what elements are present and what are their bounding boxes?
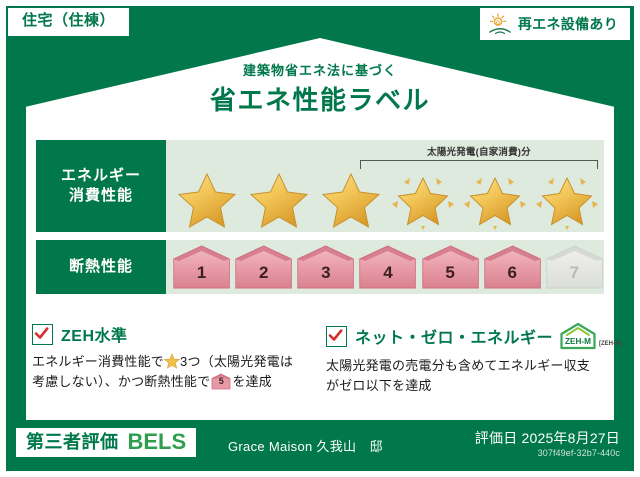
checkbox-checked-icon <box>326 326 347 347</box>
category-tag: 住宅（住棟） <box>8 8 129 36</box>
insulation-grade-value: 5 <box>445 263 454 290</box>
star-icon-inline <box>164 353 180 369</box>
bels-jp-label: 第三者評価 <box>26 433 119 451</box>
criteria-zeh-block: ZEH水準 エネルギー消費性能で3つ（太陽光発電は考慮しない）、かつ断熱性能で5… <box>32 322 304 392</box>
energy-header-line2: 消費性能 <box>69 186 133 206</box>
insulation-grade-badge-unachieved: 7 <box>545 244 604 290</box>
insulation-grade-scale: 1 2 3 <box>172 240 604 294</box>
zeh-m-logo: ZEH-M [ZEH-M] <box>559 322 622 350</box>
insulation-grade-value: 2 <box>259 263 268 290</box>
building-name: Grace Maison 久我山 邸 <box>228 436 383 455</box>
criteria-zeh-grade-value: 5 <box>211 375 231 389</box>
insulation-grade-badge: 4 <box>358 244 417 290</box>
insulation-grade-badge: 5 <box>421 244 480 290</box>
svg-text:ZEH-M: ZEH-M <box>565 337 591 346</box>
insulation-grade-value: 6 <box>508 263 517 290</box>
renewable-badge-label: 再エネ設備あり <box>518 17 618 31</box>
criteria-netzero-header: ネット・ゼロ・エネルギー ZEH-M [ZEH-M] <box>326 322 598 350</box>
energy-row-body: 太陽光発電(自家消費)分 <box>166 140 604 232</box>
insulation-grade-badge: 2 <box>234 244 293 290</box>
energy-performance-row: エネルギー 消費性能 太陽光発電(自家消費)分 <box>36 140 604 232</box>
insulation-grade-badge: 6 <box>483 244 542 290</box>
energy-row-header: エネルギー 消費性能 <box>36 140 166 232</box>
criteria-netzero-block: ネット・ゼロ・エネルギー ZEH-M [ZEH-M] 太陽光発電の売電分も含めて… <box>326 322 598 396</box>
insulation-grade-badge: 3 <box>296 244 355 290</box>
zeh-m-logo-caption: [ZEH-M] <box>599 341 622 350</box>
checkbox-checked-icon <box>32 324 53 345</box>
criteria-zeh-header: ZEH水準 <box>32 322 304 346</box>
bels-en-label: BELS <box>128 431 187 453</box>
star-icon-solar <box>460 168 530 230</box>
insulation-grade-badge-inline: 5 <box>211 373 231 390</box>
footer-bar: 第三者評価 BELS Grace Maison 久我山 邸 評価日 2025年8… <box>6 420 634 471</box>
insulation-grade-value: 1 <box>197 263 206 290</box>
star-icon <box>316 168 386 230</box>
star-icon-solar <box>532 168 602 230</box>
solar-contribution-bracket: 太陽光発電(自家消費)分 <box>358 146 600 170</box>
star-icon-solar <box>388 168 458 230</box>
star-icon <box>244 168 314 230</box>
page-title: 省エネ性能ラベル <box>0 80 640 117</box>
renewable-equipment-badge: D 再エネ設備あり <box>480 8 630 40</box>
insulation-grade-badge: 1 <box>172 244 231 290</box>
insulation-row-body: 1 2 3 <box>166 240 604 294</box>
energy-header-line1: エネルギー <box>61 166 141 186</box>
star-rating <box>166 168 604 230</box>
solar-bracket-label: 太陽光発電(自家消費)分 <box>358 144 600 158</box>
insulation-header-line1: 断熱性能 <box>69 257 133 277</box>
criteria-netzero-title: ネット・ゼロ・エネルギー <box>355 324 553 348</box>
criteria-zeh-text: エネルギー消費性能で3つ（太陽光発電は考慮しない）、かつ断熱性能で5を達成 <box>32 352 304 392</box>
criteria-zeh-text-part1: エネルギー消費性能で <box>32 354 164 369</box>
insulation-row-header: 断熱性能 <box>36 240 166 294</box>
criteria-zeh-star-count: 3つ <box>180 354 201 369</box>
evaluation-id: 307f49ef-32b7-440c <box>538 448 620 458</box>
criteria-zeh-text-part3: を達成 <box>232 374 272 389</box>
bels-badge: 第三者評価 BELS <box>16 428 196 457</box>
criteria-zeh-title: ZEH水準 <box>61 322 128 346</box>
criteria-netzero-text: 太陽光発電の売電分も含めてエネルギー収支がゼロ以下を達成 <box>326 356 598 396</box>
svg-text:D: D <box>496 20 500 26</box>
evaluation-date: 評価日 2025年8月27日 <box>475 428 620 448</box>
insulation-grade-value: 7 <box>570 263 579 290</box>
energy-performance-label: 住宅（住棟） D 再エネ設備あり 建築物省エネ法に基づく 省エネ性能ラベル <box>0 0 640 477</box>
star-icon <box>172 168 242 230</box>
insulation-performance-row: 断熱性能 <box>36 240 604 294</box>
insulation-grade-value: 3 <box>321 263 330 290</box>
solar-sun-icon: D <box>488 13 512 35</box>
insulation-grade-value: 4 <box>383 263 392 290</box>
title-subtitle: 建築物省エネ法に基づく <box>0 60 640 79</box>
